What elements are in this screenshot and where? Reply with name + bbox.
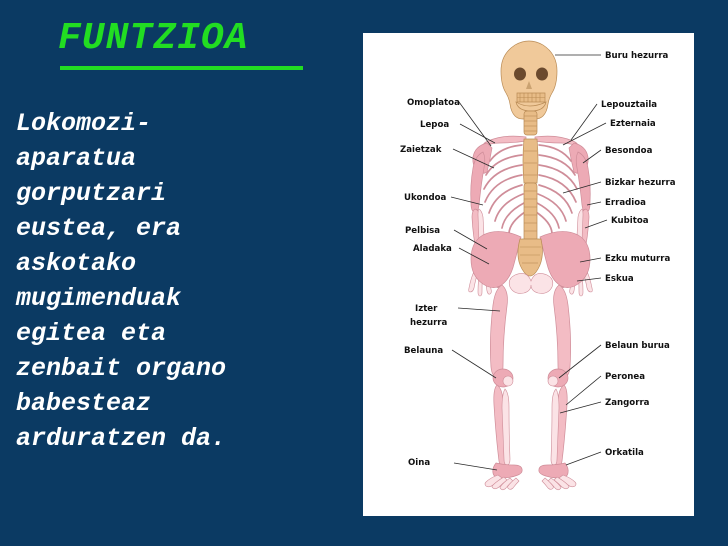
slide-canvas: FUNTZIOA Lokomozi- aparatua gorputzari e… <box>0 0 728 546</box>
right-leg <box>539 285 576 490</box>
skeleton-illustration: Omoplatoa Lepoa Zaietzak Ukondoa Pelbisa… <box>363 33 694 516</box>
label-besondoa: Besondoa <box>605 146 653 156</box>
skull-group <box>501 41 557 119</box>
label-izter: Izter <box>415 304 438 314</box>
label-buru-hezurra: Buru hezurra <box>605 51 669 61</box>
label-hezurra: hezurra <box>410 318 448 328</box>
label-peronea: Peronea <box>605 372 645 382</box>
label-lepouztaila: Lepouztaila <box>601 100 657 110</box>
label-lepoa: Lepoa <box>420 120 449 130</box>
left-leg <box>485 285 522 490</box>
page-title: FUNTZIOA <box>58 20 248 58</box>
skeleton-figure <box>469 41 593 490</box>
label-kubitoa: Kubitoa <box>611 216 649 226</box>
cervical-spine <box>524 111 537 135</box>
label-orkatila: Orkatila <box>605 448 644 458</box>
diagram-labels-left: Omoplatoa Lepoa Zaietzak Ukondoa Pelbisa… <box>400 98 460 468</box>
label-zaietzak: Zaietzak <box>400 145 442 155</box>
label-zangorra: Zangorra <box>605 398 650 408</box>
label-ezternaia: Ezternaia <box>610 119 656 129</box>
label-omoplatoa: Omoplatoa <box>407 98 460 108</box>
label-erradioa: Erradioa <box>605 198 646 208</box>
pelvis-group <box>471 231 590 293</box>
label-belaun-burua: Belaun burua <box>605 341 670 351</box>
label-eskua: Eskua <box>605 274 634 284</box>
label-bizkar-hezurra: Bizkar hezurra <box>605 178 676 188</box>
label-belauna: Belauna <box>404 346 443 356</box>
label-aladaka: Aladaka <box>413 244 452 254</box>
diagram-labels-right: Buru hezurra Lepouztaila Ezternaia Beson… <box>601 51 676 458</box>
title-underline <box>60 66 303 70</box>
vertebral-column <box>524 183 537 245</box>
body-paragraph: Lokomozi- aparatua gorputzari eustea, er… <box>16 106 346 456</box>
label-pelbisa: Pelbisa <box>405 226 440 236</box>
label-oina: Oina <box>408 458 430 468</box>
label-ukondoa: Ukondoa <box>404 193 447 203</box>
label-ezku-muturra: Ezku muturra <box>605 254 670 264</box>
skeleton-diagram-panel: Omoplatoa Lepoa Zaietzak Ukondoa Pelbisa… <box>363 33 694 516</box>
